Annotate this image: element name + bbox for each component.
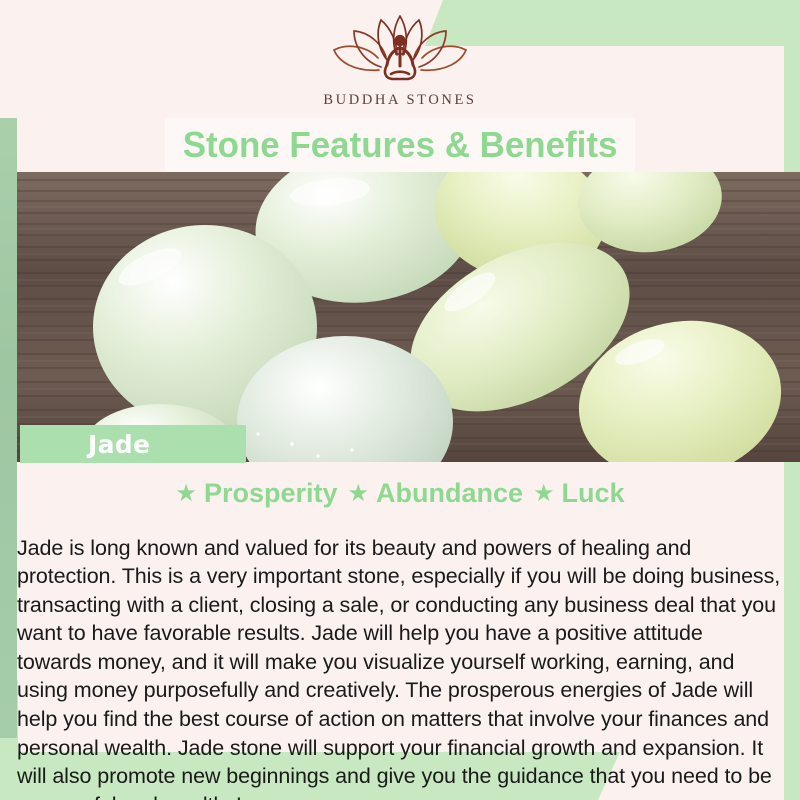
lotus-meditation-icon: [323, 10, 476, 88]
keyword-item-abundance: ★ Abundance: [348, 478, 524, 509]
star-icon: ★: [175, 482, 197, 506]
title-panel: Stone Features & Benefits: [165, 118, 635, 172]
stone-benefits-card: BUDDHA STONES Stone Features & Benefits: [0, 0, 800, 800]
star-icon: ★: [348, 482, 370, 506]
keyword-item-luck: ★ Luck: [533, 478, 625, 509]
stone-name-banner: Jade: [20, 425, 246, 463]
brand-header: BUDDHA STONES: [0, 0, 800, 118]
keyword-label: Prosperity: [204, 478, 338, 509]
stone-name-label: Jade: [88, 430, 150, 459]
keyword-label: Abundance: [376, 478, 523, 509]
keyword-label: Luck: [562, 478, 625, 509]
page-title: Stone Features & Benefits: [183, 124, 618, 166]
decorative-stripe-left: [0, 118, 17, 738]
stone-photo: [0, 172, 800, 462]
keyword-item-prosperity: ★ Prosperity: [175, 478, 337, 509]
stone-description: Jade is long known and valued for its be…: [17, 534, 783, 800]
keyword-list: ★ Prosperity ★ Abundance ★ Luck: [0, 478, 800, 509]
star-icon: ★: [533, 482, 555, 506]
brand-name: BUDDHA STONES: [323, 92, 476, 109]
brand-logo: BUDDHA STONES: [323, 10, 476, 109]
